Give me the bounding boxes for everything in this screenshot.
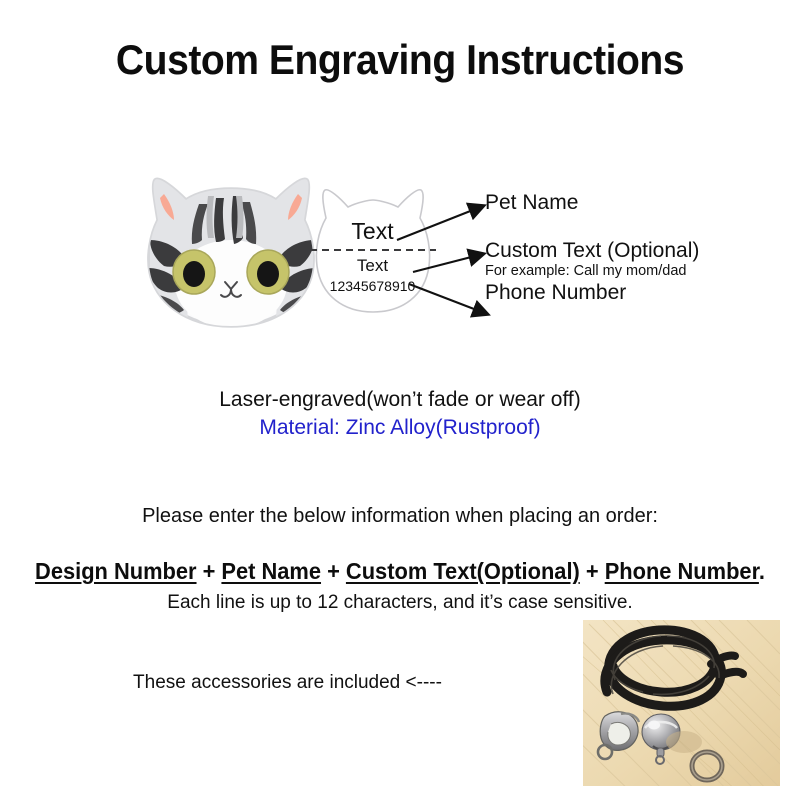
page-title: Custom Engraving Instructions — [28, 36, 772, 84]
formula-separator: + — [197, 558, 222, 584]
engraving-diagram: Text Text 12345678910 Pet Name Custom Te… — [0, 160, 800, 350]
label-group: Pet Name Custom Text (Optional) For exam… — [485, 192, 785, 304]
order-formula: Design Number + Pet Name + Custom Text(O… — [20, 558, 780, 585]
formula-end: . — [759, 558, 765, 584]
formula-term-4: Phone Number — [605, 558, 759, 584]
formula-term-3: Custom Text(Optional) — [346, 558, 580, 584]
order-note: Please enter the below information when … — [0, 505, 800, 528]
char-limit-note: Each line is up to 12 characters, and it… — [0, 592, 800, 614]
arrow-custom-text — [413, 254, 483, 272]
arrow-pet-name — [397, 206, 483, 240]
arrow-phone-number — [409, 284, 487, 314]
product-details: Laser-engraved(won’t fade or wear off) M… — [0, 386, 800, 443]
label-custom-text: Custom Text (Optional) — [485, 240, 785, 262]
label-custom-text-example: For example: Call my mom/dad — [485, 263, 785, 280]
formula-separator: + — [580, 558, 605, 584]
instruction-sheet: Custom Engraving Instructions — [0, 0, 800, 800]
formula-term-2: Pet Name — [221, 558, 321, 584]
label-phone-number: Phone Number — [485, 282, 785, 304]
laser-engraved-text: Laser-engraved(won’t fade or wear off) — [0, 386, 800, 414]
accessories-photo — [583, 620, 780, 786]
formula-term-1: Design Number — [35, 558, 196, 584]
material-text: Material: Zinc Alloy(Rustproof) — [0, 414, 800, 442]
label-pet-name: Pet Name — [485, 192, 785, 214]
formula-separator: + — [321, 558, 346, 584]
accessories-caption: These accessories are included <---- — [0, 672, 575, 694]
